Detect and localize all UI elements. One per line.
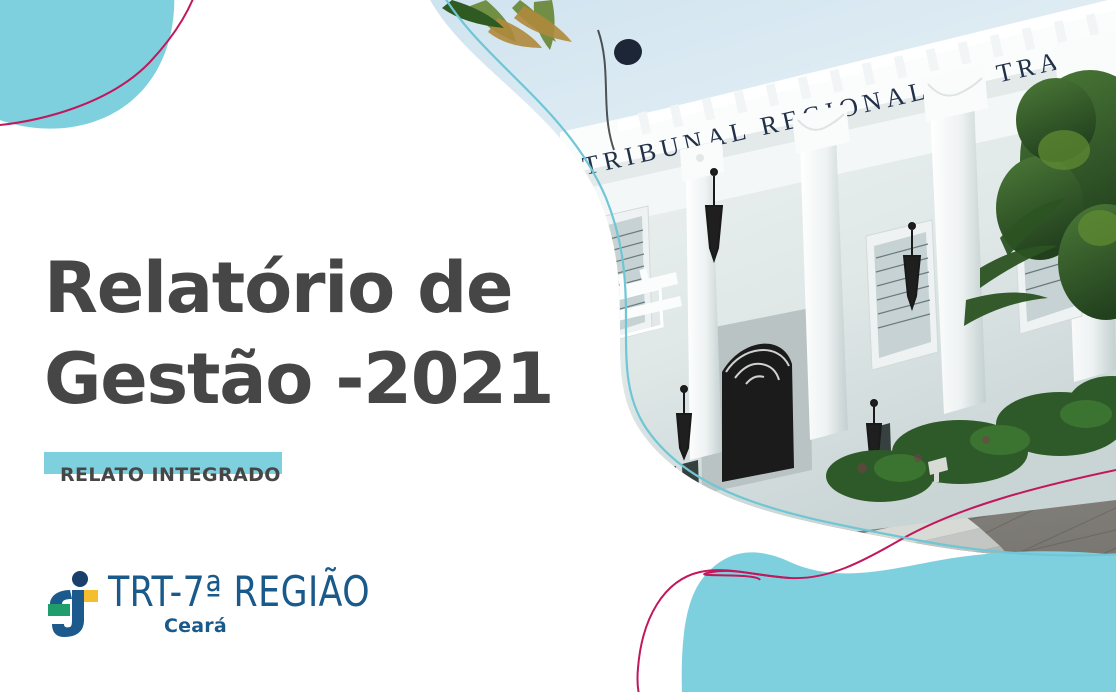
page-subtitle: RELATO INTEGRADO [44,464,281,486]
title-block: Relatório de Gestão -2021 [44,243,644,425]
subtitle-block: RELATO INTEGRADO [44,452,281,486]
trt7-logo: TRT-7ª REGIÃO Ceará [46,566,393,643]
logo-title: TRT-7ª REGIÃO [108,572,370,612]
page-title: Relatório de Gestão -2021 [44,243,644,425]
content-layer: Relatório de Gestão -2021 RELATO INTEGRA… [0,0,1116,692]
running-figure-icon [46,566,98,643]
logo-text: TRT-7ª REGIÃO Ceará [108,572,393,637]
report-cover-page: TRIBUNAL REGIONAL DO TRABALHO [0,0,1116,692]
logo-head [72,571,88,587]
logo-green-bar [48,604,70,616]
logo-subtitle: Ceará [164,615,393,637]
logo-arm [50,590,72,604]
